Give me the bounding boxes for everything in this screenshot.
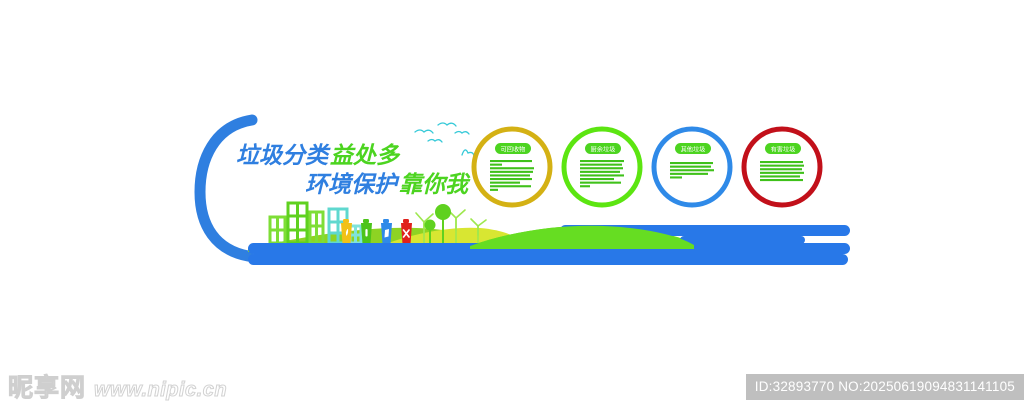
headline-line2-green: 靠你我 (399, 172, 471, 198)
image-id-label: ID:32893770 NO:20250619094831141105 (746, 374, 1024, 400)
pill-label-kitchen: 厨余垃圾 (591, 146, 616, 154)
bin-green (361, 219, 372, 244)
headline-line1-blue: 垃圾分类 (236, 143, 331, 169)
nipic-url: www.nipic.cn (94, 380, 227, 400)
watermark-brand: 昵享网 www.nipic.cn (0, 375, 227, 400)
bird-flock (415, 123, 474, 156)
wall-graphic-canvas: 垃圾分类 益处多 环境保护 靠你我 (0, 0, 1024, 410)
pill-label-other: 其他垃圾 (681, 146, 706, 154)
pill-label-hazardous: 有害垃圾 (771, 146, 796, 154)
headline-line1-green: 益处多 (330, 143, 401, 169)
waste-sorting-wall-illustration: 垃圾分类 益处多 环境保护 靠你我 (0, 0, 1024, 410)
building-green-tall (288, 203, 307, 243)
circle-kitchen[interactable]: 厨余垃圾 (564, 129, 640, 205)
nipic-logo: 昵享网 (8, 375, 86, 400)
bin-blue (381, 219, 392, 244)
circle-recyclable[interactable]: 可回收物 (474, 129, 550, 205)
circle-other[interactable]: 其他垃圾 (654, 129, 730, 205)
pill-label-recyclable: 可回收物 (501, 146, 526, 154)
building-green-short (270, 217, 285, 243)
watermark-bar: 昵享网 www.nipic.cn ID:32893770 NO:20250619… (0, 364, 1024, 410)
headline-block: 垃圾分类 益处多 环境保护 靠你我 (236, 143, 471, 198)
headline-line2-blue: 环境保护 (305, 172, 400, 198)
left-blue-arc (200, 120, 252, 256)
bin-red (401, 219, 412, 244)
circle-hazardous[interactable]: 有害垃圾 (744, 129, 820, 205)
